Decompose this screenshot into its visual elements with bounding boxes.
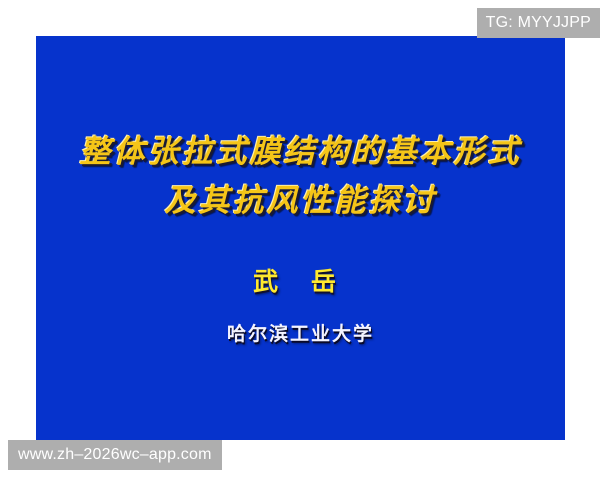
presentation-slide: 整体张拉式膜结构的基本形式 及其抗风性能探讨 武 岳 哈尔滨工业大学 <box>36 36 565 440</box>
author-name: 武 岳 <box>36 262 565 298</box>
slide-title: 整体张拉式膜结构的基本形式 及其抗风性能探讨 <box>36 128 565 226</box>
watermark-bottom-left: www.zh–2026wc–app.com <box>8 440 222 470</box>
title-line-2: 及其抗风性能探讨 <box>36 177 565 226</box>
screenshot-canvas: 整体张拉式膜结构的基本形式 及其抗风性能探讨 武 岳 哈尔滨工业大学 TG: M… <box>0 0 600 480</box>
slide-content-area: 整体张拉式膜结构的基本形式 及其抗风性能探讨 武 岳 哈尔滨工业大学 <box>36 36 565 440</box>
title-line-1: 整体张拉式膜结构的基本形式 <box>36 128 565 177</box>
affiliation-name: 哈尔滨工业大学 <box>36 319 565 346</box>
watermark-top-right: TG: MYYJJPP <box>477 8 600 38</box>
